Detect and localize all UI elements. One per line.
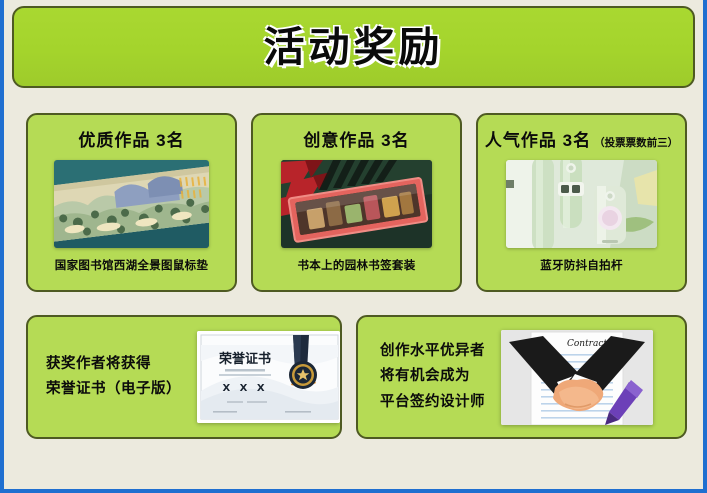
prize-heading-text: 创意作品 3名	[303, 126, 409, 151]
benefit-line: 创作水平优异者	[380, 339, 485, 364]
prize-caption: 书本上的园林书签套装	[298, 257, 416, 273]
benefit-text-contract: 创作水平优异者 将有机会成为 平台签约设计师	[380, 339, 485, 415]
contract-handshake-image: Contract	[501, 330, 653, 425]
page-title: 活动奖励	[264, 27, 444, 68]
benefit-card-contract[interactable]: 创作水平优异者 将有机会成为 平台签约设计师 Contract	[356, 315, 687, 439]
benefit-line: 将有机会成为	[380, 364, 485, 389]
prize-caption: 国家图书馆西湖全景图鼠标垫	[55, 257, 208, 273]
page-frame: 活动奖励 优质作品 3名	[4, 0, 703, 489]
svg-text:X X X: X X X	[222, 383, 267, 394]
prize-heading-text: 人气作品 3名	[485, 126, 591, 151]
prize-card-row: 优质作品 3名	[26, 113, 687, 292]
prize-heading: 人气作品 3名 （投票票数前三）	[485, 126, 678, 151]
bluetooth-selfie-stick-photo	[506, 160, 657, 248]
prize-heading-note: （投票票数前三）	[594, 135, 678, 150]
prize-card-creative[interactable]: 创意作品 3名	[251, 113, 462, 292]
prize-caption: 蓝牙防抖自拍杆	[540, 257, 623, 273]
benefit-card-certificate[interactable]: 获奖作者将获得 荣誉证书（电子版） 荣誉证书 X X X	[26, 315, 342, 439]
benefit-card-row: 获奖作者将获得 荣誉证书（电子版） 荣誉证书 X X X	[26, 315, 687, 439]
svg-text:荣誉证书: 荣誉证书	[218, 351, 271, 367]
prize-heading: 创意作品 3名	[303, 126, 409, 151]
prize-card-quality[interactable]: 优质作品 3名	[26, 113, 237, 292]
header-banner: 活动奖励	[12, 6, 695, 88]
benefit-line: 平台签约设计师	[380, 390, 485, 415]
benefit-line: 荣誉证书（电子版）	[46, 377, 181, 402]
benefit-line: 获奖作者将获得	[46, 352, 181, 377]
prize-heading: 优质作品 3名	[78, 126, 184, 151]
garden-bookmark-giftbox-photo	[281, 160, 432, 248]
west-lake-panorama-mousepad-photo	[54, 160, 209, 248]
benefit-text-certificate: 获奖作者将获得 荣誉证书（电子版）	[46, 352, 181, 403]
prize-card-popular[interactable]: 人气作品 3名 （投票票数前三）	[476, 113, 687, 292]
prize-heading-text: 优质作品 3名	[78, 126, 184, 151]
honor-certificate-image: 荣誉证书 X X X	[197, 331, 340, 423]
